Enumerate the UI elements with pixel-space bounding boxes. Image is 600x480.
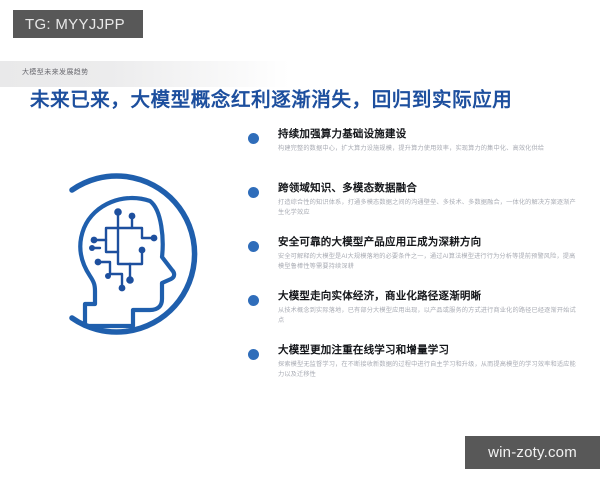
bullet-heading: 大模型走向实体经济，商业化路径逐渐明晰 xyxy=(278,288,481,303)
bullet-list: 持续加强算力基础设施建设 构建完整的数据中心，扩大算力设施规模，提升算力使用效率… xyxy=(248,125,588,395)
site-watermark: win-zoty.com xyxy=(465,436,600,469)
bullet-body: 探索模型无监督学习，在不断接收新数据的过程中进行自主学习和升级，从而提高模型的学… xyxy=(278,360,578,380)
slide-eyebrow-label: 大模型未来发展趋势 xyxy=(22,67,89,77)
bullet-body: 构建完整的数据中心，扩大算力设施规模，提升算力使用效率，实现算力的集中化、高效化… xyxy=(278,144,578,154)
list-item[interactable]: 持续加强算力基础设施建设 构建完整的数据中心，扩大算力设施规模，提升算力使用效率… xyxy=(248,125,588,179)
ai-head-circuit-icon xyxy=(38,152,238,362)
title-divider xyxy=(28,114,568,115)
list-item[interactable]: 大模型更加注重在线学习和增量学习 探索模型无监督学习，在不断接收新数据的过程中进… xyxy=(248,341,588,395)
list-item[interactable]: 大模型走向实体经济，商业化路径逐渐明晰 从技术概念到实际落地，已有部分大模型应用… xyxy=(248,287,588,341)
bullet-heading: 跨领域知识、多模态数据融合 xyxy=(278,180,417,195)
bullet-body: 从技术概念到实际落地，已有部分大模型应用出现，以产品或服务的方式进行商业化的路径… xyxy=(278,306,578,326)
list-item[interactable]: 安全可靠的大模型产品应用正成为深耕方向 安全可解释的大模型是AI大规模落地的必要… xyxy=(248,233,588,287)
bullet-heading: 安全可靠的大模型产品应用正成为深耕方向 xyxy=(278,234,481,249)
list-item[interactable]: 跨领域知识、多模态数据融合 打造综合性的知识体系，打通多模态数据之间的沟通壁垒、… xyxy=(248,179,588,233)
bullet-body: 打造综合性的知识体系，打通多模态数据之间的沟通壁垒、多技术、多数据融合，一体化的… xyxy=(278,198,578,218)
page-title: 未来已来，大模型概念红利逐渐消失，回归到实际应用 xyxy=(30,83,512,112)
bullet-dot-icon xyxy=(248,187,259,198)
bullet-dot-icon xyxy=(248,133,259,144)
bullet-body: 安全可解释的大模型是AI大规模落地的必要条件之一，通过AI算法模型进行行为分析等… xyxy=(278,252,578,272)
slide-canvas: 大模型未来发展趋势 未来已来，大模型概念红利逐渐消失，回归到实际应用 xyxy=(0,52,600,452)
bullet-dot-icon xyxy=(248,241,259,252)
bullet-heading: 大模型更加注重在线学习和增量学习 xyxy=(278,342,449,357)
bullet-dot-icon xyxy=(248,349,259,360)
bullet-heading: 持续加强算力基础设施建设 xyxy=(278,126,406,141)
bullet-dot-icon xyxy=(248,295,259,306)
tg-watermark: TG: MYYJJPP xyxy=(13,10,143,38)
